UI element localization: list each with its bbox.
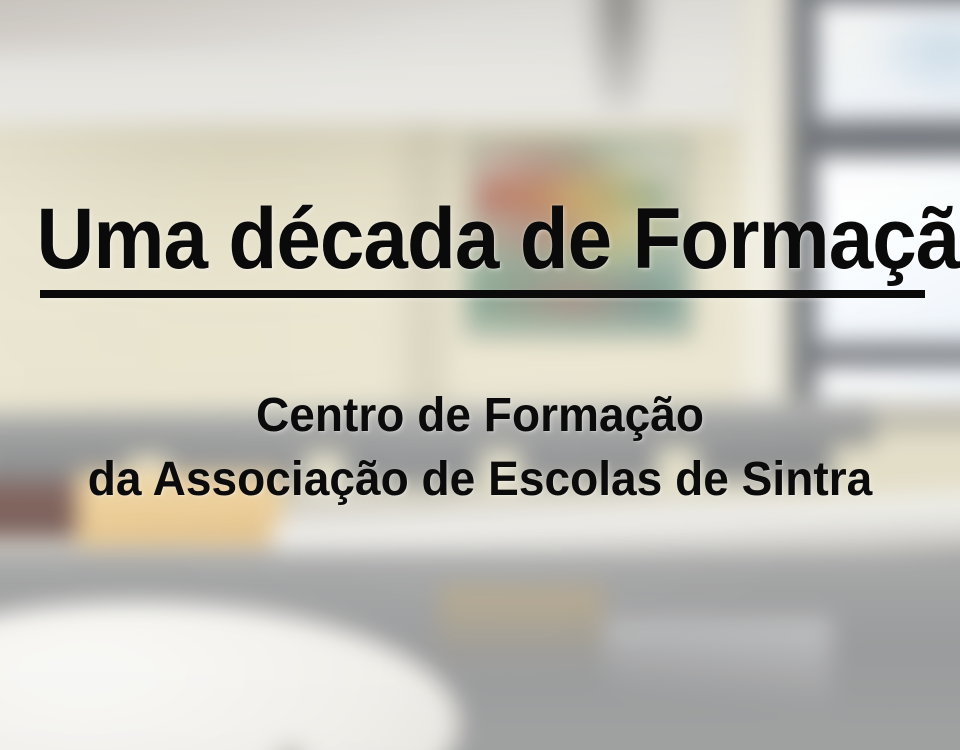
classroom-poster-band-low: [470, 278, 677, 319]
ceiling-shadow-tint: [0, 0, 563, 51]
maroon-furniture: [0, 480, 76, 537]
chair-back: [698, 420, 833, 480]
floor-clutter: [439, 586, 605, 699]
classroom-background-photo: [0, 0, 960, 750]
chair-back: [521, 424, 656, 482]
chair-back: [345, 428, 480, 485]
window-reveal-wall: [739, 0, 786, 432]
classroom-title-banner: Uma década de Formação Centro de Formaçã…: [0, 0, 960, 750]
classroom-poster-band-top: [480, 181, 667, 213]
floor-clutter: [604, 618, 832, 715]
window-pane-middle: [817, 156, 960, 342]
window-sky-tint: [864, 2, 960, 99]
tan-chair: [76, 472, 283, 545]
